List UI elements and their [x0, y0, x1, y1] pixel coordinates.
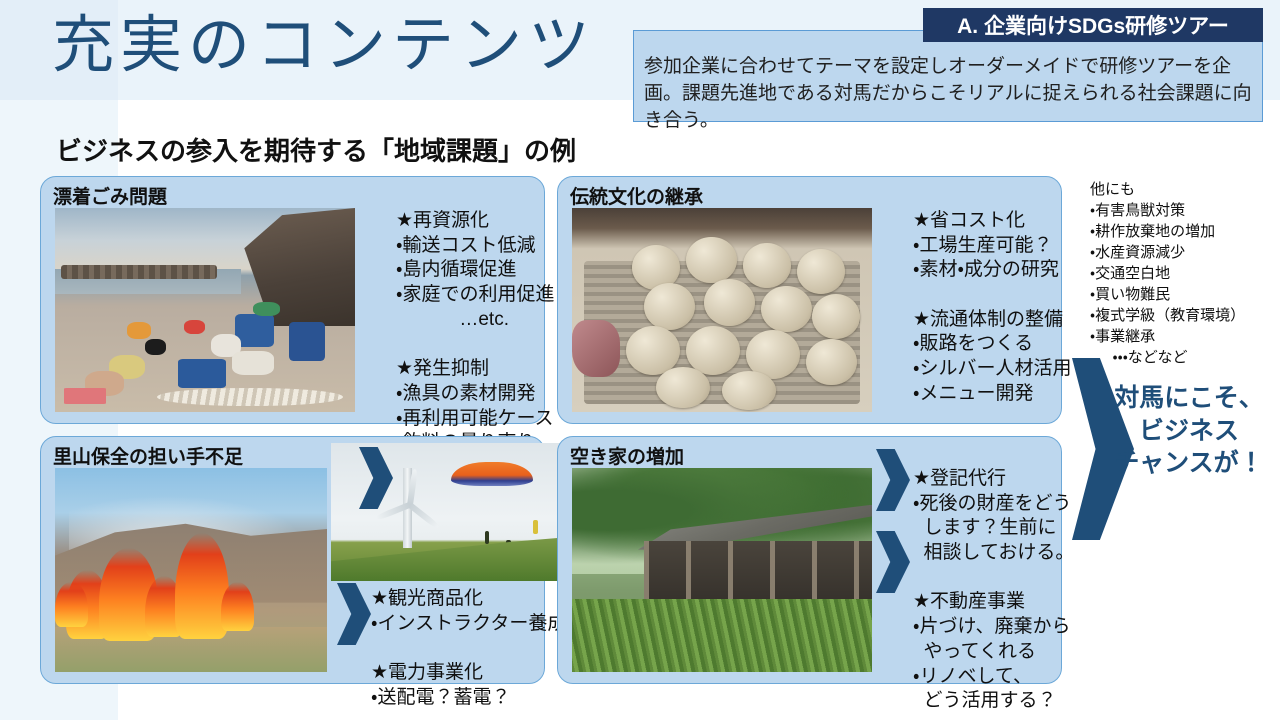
slide-root: 充実のコンテンツ 参加企業に合わせてテーマを設定しオーダーメイドで研修ツアーを企… [0, 0, 1280, 720]
cta-message: 対馬にこそ、 ビジネス チャンスが！ [1100, 382, 1278, 480]
header-tab-label: A. 企業向けSDGs研修ツアー [923, 8, 1263, 42]
panel-bullets: ★観光商品化 ・インストラクター養成 ★電力事業化 ・送配電？蓄電？ [371, 587, 566, 710]
other-issues-list: 他にも ・有害鳥獣対策 ・耕作放棄地の増加 ・水産資源減少 ・交通空白地 ・買い… [1090, 180, 1245, 369]
panel-photo-traditional-culture [572, 208, 872, 412]
panel-traditional-culture[interactable]: 伝統文化の継承 ★省コスト化 ・工場生産可能？ ・素材・成分の研究 ★流通体制の… [557, 176, 1062, 424]
page-title: 充実のコンテンツ [52, 14, 596, 79]
panel-vacant-houses[interactable]: 空き家の増加 ★登記代行 ・死後の財産をどう します？生前に 相談しておける。 … [557, 436, 1062, 684]
panel-photo-satoyama-fire [55, 468, 327, 672]
arrow-icon [876, 531, 910, 593]
panel-title: 漂着ごみ問題 [53, 182, 167, 209]
panel-title: 里山保全の担い手不足 [53, 442, 243, 469]
panel-photo-drift-litter [55, 208, 355, 412]
section-subtitle: ビジネスの参入を期待する「地域課題」の例 [56, 131, 576, 168]
panel-photo-vacant-house [572, 468, 872, 672]
panel-title: 空き家の増加 [570, 442, 684, 469]
arrow-icon [337, 583, 371, 645]
header-callout-text: 参加企業に合わせてテーマを設定しオーダーメイドで研修ツアーを企画。課題先進地であ… [644, 54, 1256, 135]
panel-title: 伝統文化の継承 [570, 182, 703, 209]
panel-satoyama-workforce[interactable]: 里山保全の担い手不足 ★観光商品化 ・インストラクター養成 ★電力事業化 ・送配… [40, 436, 545, 684]
panel-bullets: ★登記代行 ・死後の財産をどう します？生前に 相談しておける。 ★不動産事業 … [913, 467, 1074, 714]
panel-bullets: ★省コスト化 ・工場生産可能？ ・素材・成分の研究 ★流通体制の整備 ・販路をつ… [913, 209, 1071, 407]
panel-drift-litter[interactable]: 漂着ごみ問題 ★再資源化 ・輸送コスト低減 ・島内循環促進 ・家庭での利用促進 … [40, 176, 545, 424]
header-callout-box: 参加企業に合わせてテーマを設定しオーダーメイドで研修ツアーを企画。課題先進地であ… [633, 30, 1263, 122]
